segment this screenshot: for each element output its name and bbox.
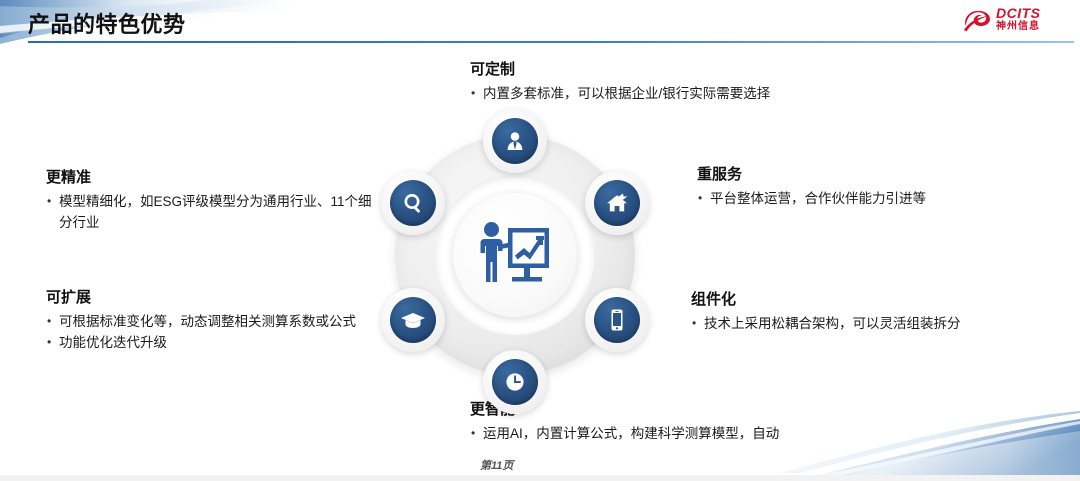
list-item: 平台整体运营，合作伙伴能力引进等 <box>697 188 1037 209</box>
wheel-node-graduation[interactable] <box>381 288 445 352</box>
header-divider-line <box>28 41 1074 43</box>
feature-bullet-list: 平台整体运营，合作伙伴能力引进等 <box>697 188 1037 209</box>
logo-cn-text: 神州信息 <box>996 21 1041 33</box>
presenter-chart-icon <box>477 220 553 291</box>
footer-swoosh-decoration <box>780 411 1080 481</box>
list-item: 可根据标准变化等，动态调整相关测算系数或公式 <box>46 311 376 332</box>
slide-header: 产品的特色优势 DCITS 神州信息 <box>0 0 1080 44</box>
page-number: 第11页 <box>480 457 513 473</box>
wheel-node-clock[interactable] <box>483 350 547 414</box>
feature-wheel-graphic <box>373 113 657 397</box>
node-circle <box>492 118 538 164</box>
wheel-center-hub <box>453 193 577 317</box>
feature-block-extensible: 可扩展 可根据标准变化等，动态调整相关测算系数或公式 功能优化迭代升级 <box>46 288 376 353</box>
feature-block-componentized: 组件化 技术上采用松耦合架构，可以灵活组装拆分 <box>691 290 1041 334</box>
list-item: 功能优化迭代升级 <box>46 332 376 353</box>
wheel-node-search[interactable] <box>381 171 445 235</box>
feature-title: 更精准 <box>46 168 376 188</box>
feature-title: 组件化 <box>691 290 1041 310</box>
list-item: 技术上采用松耦合架构，可以灵活组装拆分 <box>691 313 1041 334</box>
wheel-node-user[interactable] <box>483 109 547 173</box>
logo-en-text: DCITS <box>996 6 1041 21</box>
feature-block-customizable: 可定制 内置多套标准，可以根据企业/银行实际需要选择 <box>470 60 940 104</box>
list-item: 内置多套标准，可以根据企业/银行实际需要选择 <box>470 83 940 104</box>
feature-title: 重服务 <box>697 165 1037 185</box>
footer-bar <box>0 475 1080 481</box>
feature-bullet-list: 模型精细化，如ESG评级模型分为通用行业、11个细分行业 <box>46 191 376 233</box>
feature-bullet-list: 内置多套标准，可以根据企业/银行实际需要选择 <box>470 83 940 104</box>
home-icon <box>605 192 629 214</box>
clock-icon <box>504 371 526 393</box>
page-title: 产品的特色优势 <box>28 7 186 39</box>
wheel-node-mobile[interactable] <box>585 288 649 352</box>
mobile-phone-icon <box>609 308 625 332</box>
feature-bullet-list: 可根据标准变化等，动态调整相关测算系数或公式 功能优化迭代升级 <box>46 311 376 353</box>
feature-block-more-accurate: 更精准 模型精细化，如ESG评级模型分为通用行业、11个细分行业 <box>46 168 376 233</box>
dcits-swirl-icon <box>962 8 992 34</box>
feature-bullet-list: 技术上采用松耦合架构，可以灵活组装拆分 <box>691 313 1041 334</box>
node-circle <box>594 297 640 343</box>
company-logo: DCITS 神州信息 <box>962 5 1070 37</box>
feature-title: 可定制 <box>470 60 940 80</box>
feature-block-service-focused: 重服务 平台整体运营，合作伙伴能力引进等 <box>697 165 1037 209</box>
wheel-node-home[interactable] <box>585 171 649 235</box>
node-circle <box>594 180 640 226</box>
search-icon <box>402 192 425 215</box>
slide: 产品的特色优势 DCITS 神州信息 可定制 内置多套标准，可以根据企业/银行实… <box>0 0 1080 481</box>
node-circle <box>390 180 436 226</box>
user-icon <box>504 130 526 152</box>
graduation-cap-icon <box>400 310 426 330</box>
list-item: 模型精细化，如ESG评级模型分为通用行业、11个细分行业 <box>46 191 376 233</box>
node-circle <box>390 297 436 343</box>
node-circle <box>492 359 538 405</box>
feature-title: 可扩展 <box>46 288 376 308</box>
logo-text: DCITS 神州信息 <box>996 6 1041 33</box>
